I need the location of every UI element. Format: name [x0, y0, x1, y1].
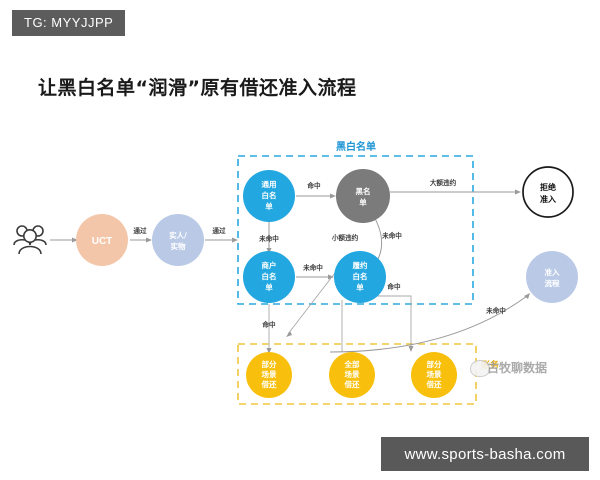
edge-label-real-to-whitelist: 通过 — [212, 226, 226, 235]
node-partial-scene-2-line2: 场景 — [427, 369, 442, 379]
node-real-person-line1: 实人/ — [169, 230, 187, 240]
slide-canvas: TG: MYYJJPP 让黑白名单“润滑”原有借还准入流程 黑白名单 账务 通过… — [0, 0, 600, 480]
watermark-text: 古牧聊数据 — [487, 359, 547, 376]
edge-label-blacklist-to-reject: 大额违约 — [430, 178, 457, 187]
node-admit-flow[interactable] — [526, 251, 578, 303]
node-all-scene-line3: 借还 — [344, 379, 360, 389]
edge-label-merchant-to-accounting: 命中 — [261, 320, 276, 329]
node-general-whitelist-line2: 白名 — [262, 190, 277, 200]
edge-label-general-to-merchant: 未命中 — [259, 234, 279, 243]
edge-lvyue-to-right — [377, 291, 411, 348]
node-uct-label: UCT — [92, 236, 113, 247]
node-admit-flow-line1: 准入 — [545, 267, 560, 277]
node-partial-scene-2-line1: 部分 — [427, 359, 442, 369]
edge-label-merchant-to-lvyue: 未命中 — [303, 263, 323, 272]
node-merchant-whitelist-line3: 单 — [265, 282, 273, 292]
node-partial-scene-2-line3: 借还 — [426, 379, 442, 389]
node-blacklist[interactable] — [336, 169, 390, 223]
blacklist-whitelist-group-label: 黑白名单 — [336, 140, 376, 153]
node-general-whitelist-line3: 单 — [265, 201, 273, 211]
node-lvyue-whitelist-line1: 履约 — [352, 260, 368, 270]
node-blacklist-line1: 黑名 — [356, 186, 371, 196]
flow-diagram: 黑白名单 账务 通过 通过 命中 未命中 未命中 大额违约 — [0, 0, 600, 480]
node-all-scene-line1: 全部 — [344, 359, 360, 369]
footer-url-bar: www.sports-basha.com — [381, 437, 589, 471]
edge-label-to-admit-flow: 未命中 — [486, 306, 506, 315]
node-blacklist-line2: 单 — [359, 197, 367, 207]
node-real-person[interactable] — [152, 214, 204, 266]
node-partial-scene-1-line3: 借还 — [261, 379, 277, 389]
users-group-icon — [14, 226, 46, 254]
edge-label-lvyue-to-right: 命中 — [386, 282, 401, 291]
node-merchant-whitelist-line1: 商户 — [262, 260, 277, 270]
node-admit-flow-line2: 流程 — [545, 278, 560, 288]
node-reject-line1: 拒绝 — [540, 182, 556, 192]
node-all-scene-line2: 场景 — [345, 369, 360, 379]
edge-label-blacklist-to-lvyue: 未命中 — [382, 231, 402, 240]
node-merchant-whitelist-line2: 白名 — [262, 271, 277, 281]
node-lvyue-whitelist-line2: 白名 — [353, 271, 368, 281]
edge-label-uct-to-real: 通过 — [133, 226, 147, 235]
node-reject[interactable] — [523, 167, 573, 217]
node-reject-line2: 准入 — [540, 194, 556, 204]
edge-label-lvyue-small-default: 小额违约 — [332, 233, 359, 242]
node-partial-scene-1-line1: 部分 — [262, 359, 277, 369]
node-general-whitelist-line1: 通用 — [262, 179, 277, 189]
node-lvyue-whitelist-line3: 单 — [356, 282, 364, 292]
node-partial-scene-1-line2: 场景 — [262, 369, 277, 379]
edge-label-general-to-blacklist: 命中 — [306, 181, 321, 190]
node-real-person-line2: 实物 — [171, 241, 186, 251]
